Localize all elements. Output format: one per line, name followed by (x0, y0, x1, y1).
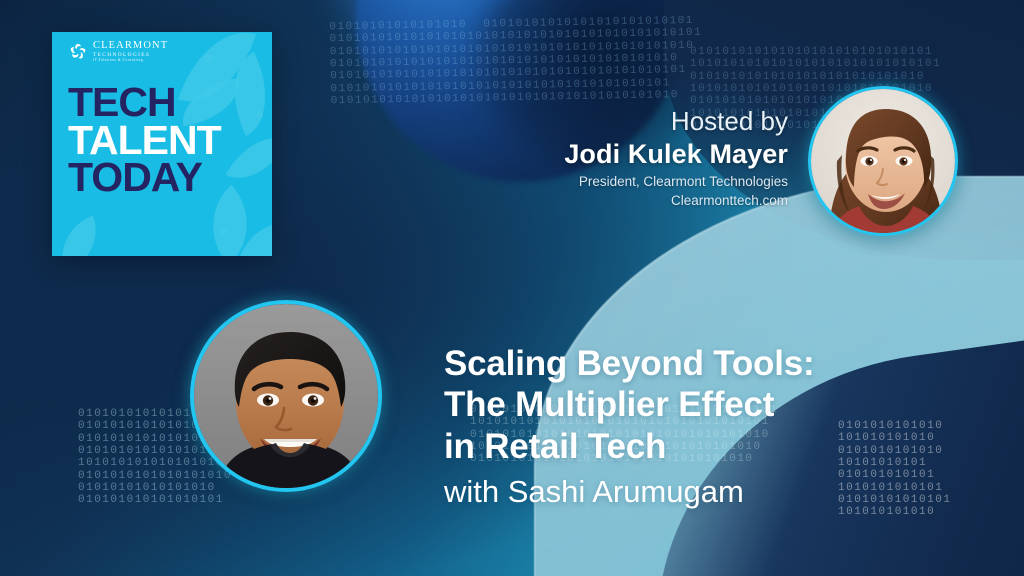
host-credit-block: Hosted by Jodi Kulek Mayer President, Cl… (564, 106, 788, 211)
guest-headshot-image (194, 304, 378, 488)
episode-cover-graphic: 01010101010101010 0101010101010101010101… (0, 0, 1024, 576)
clearmont-pinwheel-logo-icon (68, 42, 88, 62)
logo-tagline: IT Solutions & Consulting (93, 59, 168, 63)
episode-title-block: Scaling Beyond Tools: The Multiplier Eff… (444, 343, 814, 512)
episode-title-line-3: in Retail Tech (444, 426, 814, 467)
host-avatar (808, 86, 958, 236)
cover-art-title: TECH TALENT TODAY (68, 84, 221, 197)
dot-decoration-icon (204, 54, 213, 63)
host-role: President, Clearmont Technologies (564, 172, 788, 192)
episode-guest-credit: with Sashi Arumugam (444, 472, 814, 512)
logo-wordmark-line1: CLEARMONT (93, 41, 168, 52)
binary-pattern-top: 01010101010101010 0101010101010101010101… (329, 15, 703, 108)
swirl-decoration-icon (214, 52, 272, 136)
dot-decoration-icon (256, 112, 263, 119)
host-website: Clearmonttech.com (564, 191, 788, 211)
clearmont-logo: CLEARMONT TECHNOLOGIES IT Solutions & Co… (68, 41, 168, 63)
host-name: Jodi Kulek Mayer (564, 137, 788, 172)
swirl-decoration-icon (226, 123, 272, 194)
swirl-decoration-icon (52, 215, 108, 256)
podcast-cover-art: CLEARMONT TECHNOLOGIES IT Solutions & Co… (52, 32, 272, 256)
host-headshot-image (811, 89, 955, 233)
episode-title-line-2: The Multiplier Effect (444, 384, 814, 425)
cover-title-line-3: TODAY (68, 159, 221, 197)
swirl-decoration-icon (237, 214, 272, 256)
episode-title-line-1: Scaling Beyond Tools: (444, 343, 814, 384)
dot-decoration-icon (220, 228, 227, 235)
guest-avatar (190, 300, 382, 492)
hosted-by-label: Hosted by (564, 106, 788, 137)
background-orb-glow (330, 0, 590, 90)
